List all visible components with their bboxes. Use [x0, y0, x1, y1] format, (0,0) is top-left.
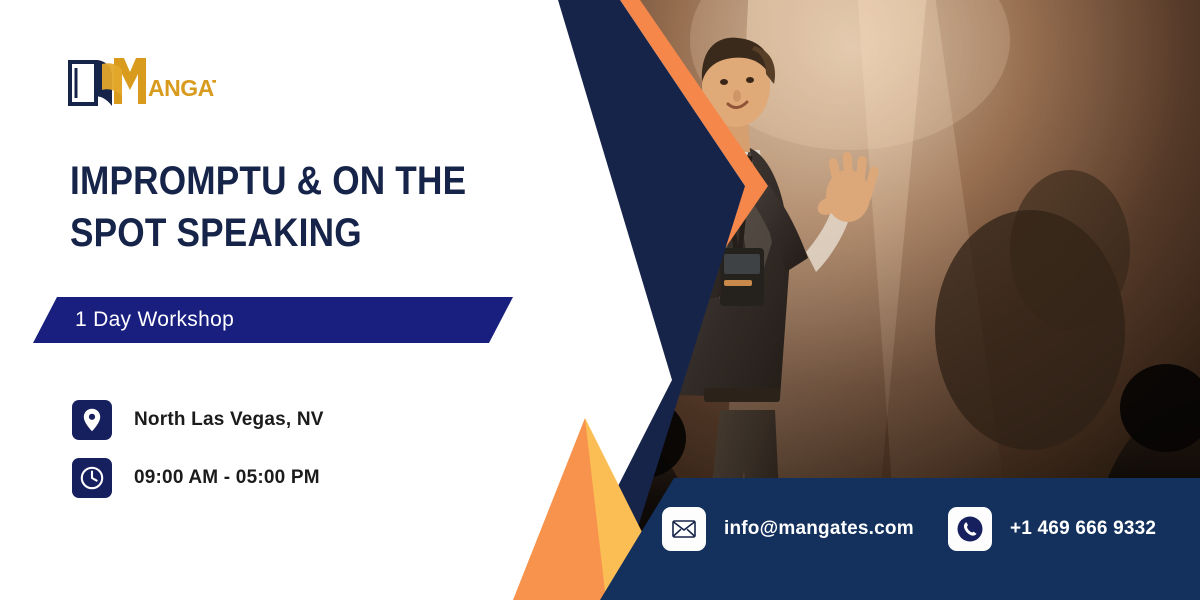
logo-wordmark: ANGATES — [148, 75, 216, 101]
contact-email-text: info@mangates.com — [724, 518, 914, 540]
event-banner: info@mangates.com +1 469 666 9332 — [0, 0, 1200, 600]
envelope-icon — [662, 507, 706, 551]
contact-phone-text: +1 469 666 9332 — [1010, 518, 1156, 540]
contact-phone[interactable]: +1 469 666 9332 — [948, 507, 1156, 551]
clock-icon — [72, 458, 112, 498]
event-location-text: North Las Vegas, NV — [134, 409, 324, 431]
duration-badge-label: 1 Day Workshop — [75, 297, 234, 343]
event-time-text: 09:00 AM - 05:00 PM — [134, 467, 320, 489]
event-time: 09:00 AM - 05:00 PM — [72, 458, 320, 498]
contact-bar: info@mangates.com +1 469 666 9332 — [600, 478, 1200, 600]
phone-icon — [948, 507, 992, 551]
page-title: IMPROMPTU & ON THE SPOT SPEAKING — [70, 155, 484, 259]
contact-email[interactable]: info@mangates.com — [662, 507, 914, 551]
left-content-column: ANGATES IMPROMPTU & ON THE SPOT SPEAKING… — [0, 0, 600, 600]
event-location: North Las Vegas, NV — [72, 400, 324, 440]
mangates-logo[interactable]: ANGATES — [66, 52, 216, 110]
location-pin-icon — [72, 400, 112, 440]
title-line-1: IMPROMPTU & ON THE — [70, 155, 484, 207]
title-line-2: SPOT SPEAKING — [70, 207, 484, 259]
duration-badge: 1 Day Workshop — [33, 297, 513, 343]
